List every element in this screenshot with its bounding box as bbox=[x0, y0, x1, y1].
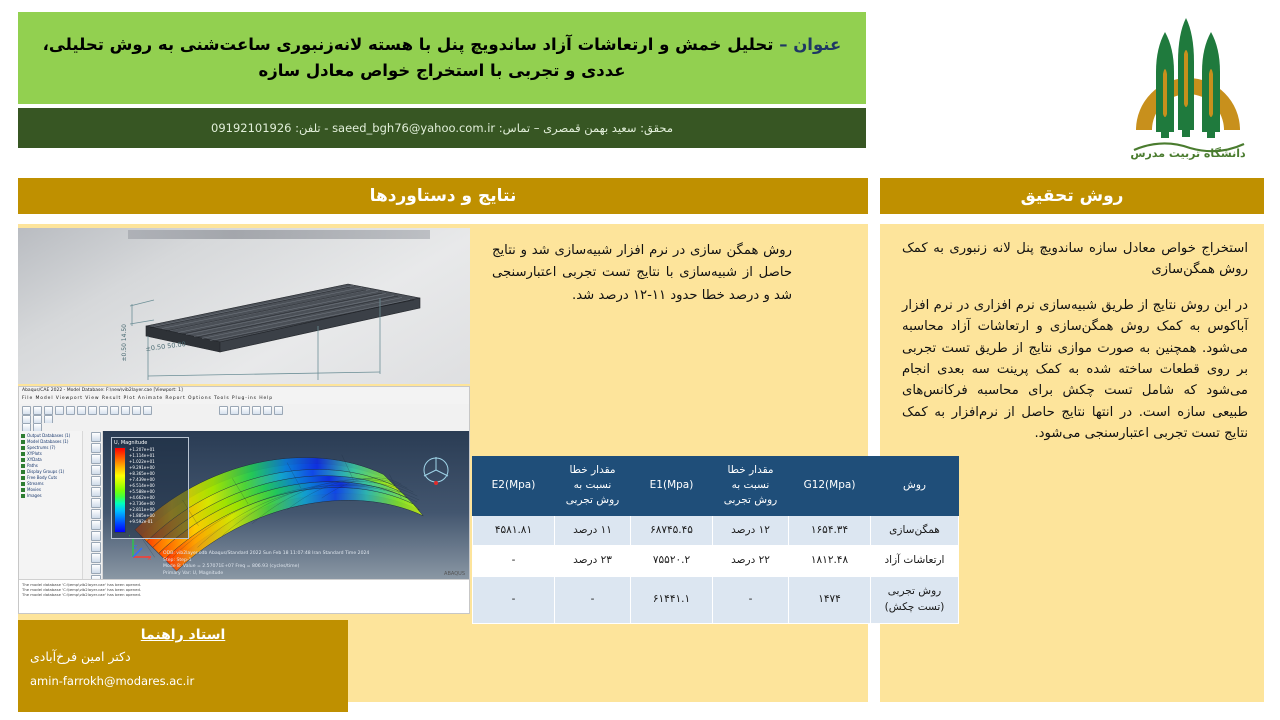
err2-line-2: نسبت به bbox=[574, 479, 612, 491]
viewport-footer-info: ODB: vib2layer.odb Abaqus/Standard 2022 … bbox=[163, 551, 369, 577]
row1-err-e2: ۲۳ درصد bbox=[555, 546, 631, 577]
err-line-3: روش تجربی bbox=[724, 494, 777, 506]
abaqus-vertical-toolbar[interactable] bbox=[83, 431, 103, 579]
pan-icon[interactable] bbox=[77, 406, 86, 415]
first-frame-icon[interactable] bbox=[252, 406, 261, 415]
row1-err-e1: ۲۲ درصد bbox=[713, 546, 789, 577]
tree-item-10[interactable]: Images bbox=[21, 493, 80, 499]
cad-dim-length-label: 50.00 ±0.50 bbox=[145, 340, 186, 353]
row2-err-e2: - bbox=[555, 577, 631, 624]
footer-line-3: Primary Var: U, Magnitude bbox=[163, 571, 369, 578]
err-line-1: مقدار خطا bbox=[727, 464, 773, 476]
last-frame-icon[interactable] bbox=[219, 406, 228, 415]
row0-method: همگن‌سازی bbox=[871, 515, 959, 546]
col-header-method: روش bbox=[871, 457, 959, 516]
cad-model-photo: 14.50 ±0.50 50.00 ±0.50 bbox=[18, 228, 470, 384]
tree-node-icon bbox=[21, 452, 25, 456]
fit-view-icon[interactable] bbox=[44, 406, 53, 415]
row1-method: ارتعاشات آزاد bbox=[871, 546, 959, 577]
table-row: ارتعاشات آزاد ۱۸۱۲.۴۸ ۲۲ درصد ۷۵۵۲۰.۲ ۲۳… bbox=[473, 546, 959, 577]
section-header-results-label: نتایج و دستاوردها bbox=[370, 186, 517, 206]
cad-dimension-annotations: 14.50 ±0.50 50.00 ±0.50 bbox=[18, 228, 470, 384]
row2-g12: ۱۴۷۴ bbox=[789, 577, 871, 624]
section-header-method-label: روش تحقیق bbox=[1021, 186, 1124, 206]
logo-caption: دانشگاه تربیت مدرس bbox=[1112, 147, 1264, 160]
tree-item-7-label: Free Body Cuts bbox=[27, 475, 57, 480]
new-file-icon[interactable] bbox=[143, 406, 152, 415]
method-body-text: استخراج خواص معادل سازه ساندویچ پنل لانه… bbox=[902, 238, 1248, 444]
tree-item-10-label: Images bbox=[27, 493, 42, 498]
advisor-email[interactable]: amin-farrokh@modares.ac.ir bbox=[30, 674, 336, 688]
tree-node-icon bbox=[21, 476, 25, 480]
row0-err-e1: ۱۲ درصد bbox=[713, 515, 789, 546]
prev-frame-icon[interactable] bbox=[241, 406, 250, 415]
legend-value-12: +9.592e-01 bbox=[129, 519, 155, 525]
probe-values-icon[interactable] bbox=[91, 531, 101, 541]
probe-icon[interactable] bbox=[22, 406, 31, 415]
method-paragraph-1: استخراج خواص معادل سازه ساندویچ پنل لانه… bbox=[902, 238, 1248, 281]
col-header-g12: G12(Mpa) bbox=[789, 457, 871, 516]
stream-icon[interactable] bbox=[91, 553, 101, 563]
row2-err-e1: - bbox=[713, 577, 789, 624]
abaqus-window-title: Abaqus/CAE 2022 - Model Database: F:\new… bbox=[22, 388, 183, 393]
method-paragraph-2: در این روش نتایج از طریق شبیه‌سازی نرم ا… bbox=[902, 295, 1248, 445]
results-comparison-table: روش G12(Mpa) مقدار خطا نسبت به روش تجربی… bbox=[472, 456, 959, 624]
tree-node-icon bbox=[21, 464, 25, 468]
cad-dim-height-label: 14.50 ±0.50 bbox=[121, 324, 128, 362]
axis-y-label: Y bbox=[129, 535, 131, 541]
abaqus-model-tree[interactable]: Output Databases (1) Model Databases (1)… bbox=[19, 431, 83, 579]
row1-e2: - bbox=[473, 546, 555, 577]
abaqus-brand-mark: ABAQUS bbox=[444, 571, 465, 577]
section-header-method: روش تحقیق bbox=[880, 178, 1264, 214]
row0-e1: ۶۸۷۴۵.۴۵ bbox=[631, 515, 713, 546]
university-logo: دانشگاه تربیت مدرس bbox=[1112, 4, 1264, 162]
row2-e2: - bbox=[473, 577, 555, 624]
plot-symbol-icon[interactable] bbox=[91, 465, 101, 475]
err2-line-3: روش تجربی bbox=[566, 494, 619, 506]
tree-node-icon bbox=[21, 470, 25, 474]
err-line-2: نسبت به bbox=[732, 479, 770, 491]
undo-icon[interactable] bbox=[99, 406, 108, 415]
tree-node-icon bbox=[21, 488, 25, 492]
tree-node-icon bbox=[21, 482, 25, 486]
tree-item-5-label: Paths bbox=[27, 463, 38, 468]
tree-item-6-label: Display Groups (1) bbox=[27, 469, 64, 474]
zoom-icon[interactable] bbox=[55, 406, 64, 415]
tree-node-icon bbox=[21, 446, 25, 450]
abaqus-toolbar-icons-2[interactable] bbox=[219, 406, 283, 415]
abaqus-toolbar-icons-1[interactable] bbox=[22, 406, 152, 415]
rotate-icon[interactable] bbox=[66, 406, 75, 415]
abaqus-cae-screenshot: Abaqus/CAE 2022 - Model Database: F:\new… bbox=[18, 386, 470, 614]
axis-x-label: X bbox=[148, 556, 152, 561]
tree-item-1-label: Model Databases (1) bbox=[27, 439, 68, 444]
research-poster: عنوان – تحلیل خمش و ارتعاشات آزاد ساندوی… bbox=[0, 0, 1280, 720]
message-line-2: The model database 'C:\temp\vib2layer.ca… bbox=[22, 592, 466, 597]
legend-values: +1.207e+01 +1.114e+01 +1.022e+01 +9.291e… bbox=[129, 447, 155, 533]
open-file-icon[interactable] bbox=[132, 406, 141, 415]
poster-title-bar: عنوان – تحلیل خمش و ارتعاشات آزاد ساندوی… bbox=[18, 12, 866, 104]
tree-node-icon bbox=[21, 458, 25, 462]
row2-method: روش تجربی (تست چکش) bbox=[871, 577, 959, 624]
tree-item-8-label: Streams bbox=[27, 481, 44, 486]
tree-item-0-label: Output Databases (1) bbox=[27, 433, 70, 438]
table-header-row: روش G12(Mpa) مقدار خطا نسبت به روش تجربی… bbox=[473, 457, 959, 516]
results-summary-text: روش همگن سازی در نرم افزار شبیه‌سازی شد … bbox=[492, 240, 792, 307]
title-main-text: تحلیل خمش و ارتعاشات آزاد ساندویچ پنل با… bbox=[43, 35, 780, 80]
visualization-defaults-icon[interactable] bbox=[263, 406, 272, 415]
contour-legend: U, Magnitude +1.207e+01 +1.114e+01 +1.02… bbox=[111, 437, 189, 539]
advisor-box: استاد راهنما دکتر امین فرخ‌آبادی amin-fa… bbox=[18, 620, 348, 712]
tree-item-4-label: XYData bbox=[27, 457, 42, 462]
col-header-e2: E2(Mpa) bbox=[473, 457, 555, 516]
path-icon[interactable] bbox=[91, 520, 101, 530]
advisor-title: استاد راهنما bbox=[30, 627, 336, 643]
axis-z-label: Z bbox=[134, 545, 138, 551]
superimpose-icon[interactable] bbox=[91, 498, 101, 508]
row0-err-e2: ۱۱ درصد bbox=[555, 515, 631, 546]
footer-line-0: ODB: vib2layer.odb Abaqus/Standard 2022 … bbox=[163, 551, 369, 558]
row2-e1: ۶۱۴۴۱.۱ bbox=[631, 577, 713, 624]
plot-material-icon[interactable] bbox=[91, 476, 101, 486]
display-group-icon[interactable] bbox=[91, 564, 101, 574]
section-header-results: نتایج و دستاوردها bbox=[18, 178, 868, 214]
table-row: روش تجربی (تست چکش) ۱۴۷۴ - ۶۱۴۴۱.۱ - - bbox=[473, 577, 959, 624]
row0-e2: ۴۵۸۱.۸۱ bbox=[473, 515, 555, 546]
row0-g12: ۱۶۵۴.۳۴ bbox=[789, 515, 871, 546]
axis-triad-icon: Y X Z bbox=[129, 535, 155, 561]
abaqus-message-area[interactable]: The model database 'C:\temp\vib2layer.ca… bbox=[19, 579, 469, 613]
redo-icon[interactable] bbox=[88, 406, 97, 415]
plot-deformed-icon[interactable] bbox=[91, 443, 101, 453]
col-header-e1: E1(Mpa) bbox=[631, 457, 713, 516]
tarbiat-modares-logo-icon bbox=[1112, 4, 1264, 162]
view-orientation-triad-icon[interactable] bbox=[419, 453, 453, 487]
col-header-err-e2: مقدار خطا نسبت به روش تجربی bbox=[555, 457, 631, 516]
author-contact-bar: محقق: سعید بهمن قمصری – تماس: saeed_bgh7… bbox=[18, 108, 866, 148]
save-icon[interactable] bbox=[121, 406, 130, 415]
tree-item-3-label: XYPlots bbox=[27, 451, 42, 456]
tree-node-icon bbox=[21, 494, 25, 498]
tree-item-2-label: Spectrums (7) bbox=[27, 445, 55, 450]
table-row: همگن‌سازی ۱۶۵۴.۳۴ ۱۲ درصد ۶۸۷۴۵.۴۵ ۱۱ در… bbox=[473, 515, 959, 546]
xy-data-icon[interactable] bbox=[91, 509, 101, 519]
abaqus-viewport[interactable]: U, Magnitude +1.207e+01 +1.114e+01 +1.02… bbox=[103, 431, 469, 579]
abaqus-menu-items[interactable]: File Model Viewport View Result Plot Ani… bbox=[22, 396, 273, 401]
author-contact-text: محقق: سعید بهمن قمصری – تماس: saeed_bgh7… bbox=[211, 121, 673, 135]
title-lead-label: عنوان – bbox=[779, 35, 841, 54]
query-icon[interactable] bbox=[33, 406, 42, 415]
plot-undeformed-icon[interactable] bbox=[91, 432, 101, 442]
tree-item-9-label: Movies bbox=[27, 487, 41, 492]
tree-node-icon bbox=[21, 434, 25, 438]
advisor-name: دکتر امین فرخ‌آبادی bbox=[30, 649, 336, 664]
plot-contour-icon[interactable] bbox=[91, 454, 101, 464]
info-icon[interactable] bbox=[274, 406, 283, 415]
row1-e1: ۷۵۵۲۰.۲ bbox=[631, 546, 713, 577]
tree-node-icon bbox=[21, 440, 25, 444]
page-title: عنوان – تحلیل خمش و ارتعاشات آزاد ساندوی… bbox=[28, 32, 856, 83]
row1-g12: ۱۸۱۲.۴۸ bbox=[789, 546, 871, 577]
col-header-err-e1: مقدار خطا نسبت به روش تجربی bbox=[713, 457, 789, 516]
legend-colorbar bbox=[114, 447, 126, 533]
free-body-icon[interactable] bbox=[91, 542, 101, 552]
print-icon[interactable] bbox=[110, 406, 119, 415]
common-options-icon[interactable] bbox=[91, 487, 101, 497]
next-frame-icon[interactable] bbox=[230, 406, 239, 415]
err2-line-1: مقدار خطا bbox=[569, 464, 615, 476]
legend-title: U, Magnitude bbox=[114, 440, 186, 446]
